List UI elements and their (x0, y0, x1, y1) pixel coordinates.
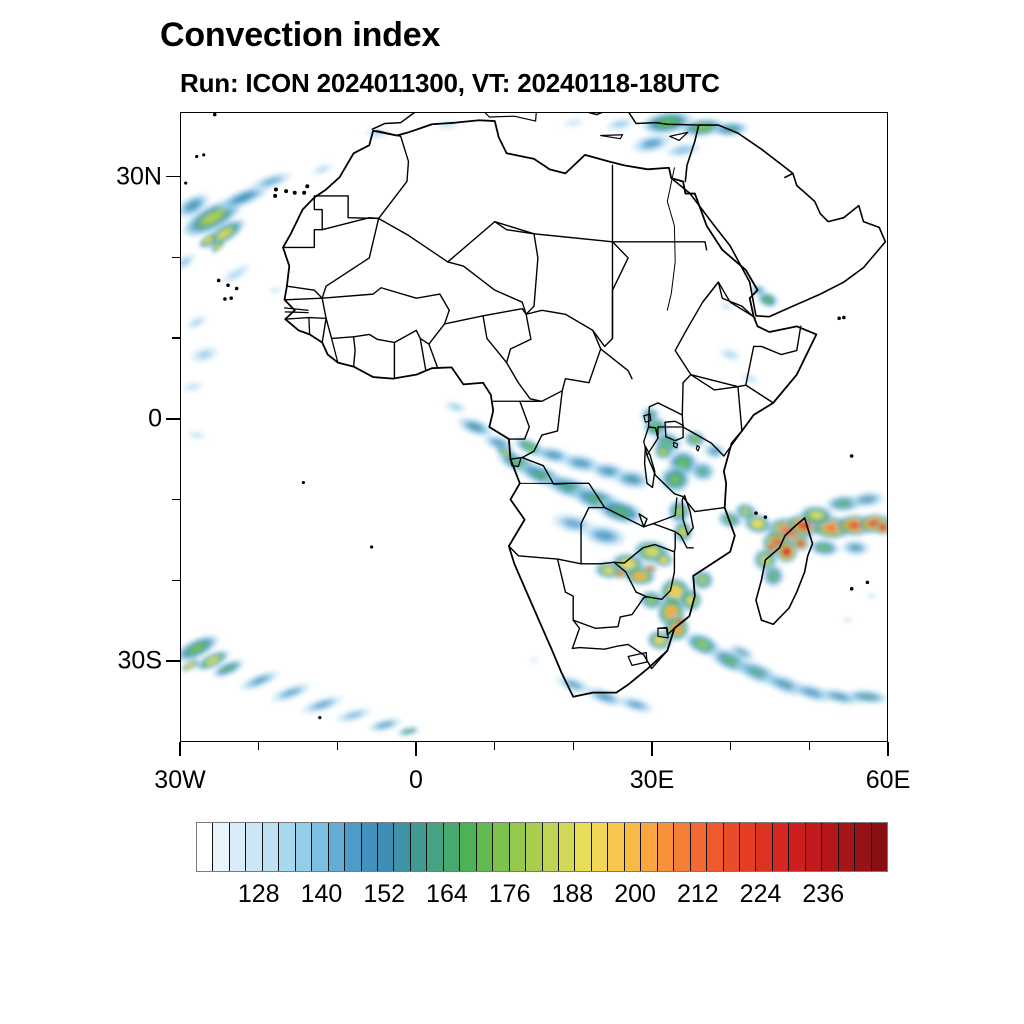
colorbar-tick-label: 176 (489, 880, 531, 909)
colorbar-swatch (789, 823, 805, 871)
y-axis-label: 30N (96, 162, 162, 191)
colorbar-tick-label: 128 (238, 880, 280, 909)
colorbar-swatch (296, 823, 312, 871)
x-axis-tick-major (887, 742, 889, 756)
colorbar-tick-label: 236 (802, 880, 844, 909)
colorbar-swatch (493, 823, 509, 871)
colorbar-swatch (872, 823, 887, 871)
map-canvas (181, 113, 887, 741)
colorbar-swatch (427, 823, 443, 871)
colorbar-swatch (740, 823, 756, 871)
colorbar-tick-label: 140 (301, 880, 343, 909)
colorbar-swatch (658, 823, 674, 871)
x-axis-label: 0 (409, 766, 423, 795)
x-axis-tick-minor (494, 742, 496, 750)
y-axis-tick-minor (172, 337, 180, 339)
colorbar-swatch (559, 823, 575, 871)
colorbar-swatch (674, 823, 690, 871)
colorbar-swatch (246, 823, 262, 871)
x-axis-label: 30W (154, 766, 205, 795)
colorbar-swatch (378, 823, 394, 871)
colorbar-tick-label: 212 (677, 880, 719, 909)
map-plot-area (180, 112, 888, 742)
colorbar-swatch (230, 823, 246, 871)
y-axis-tick-minor (172, 499, 180, 501)
x-axis-tick-major (179, 742, 181, 756)
colorbar-swatch (460, 823, 476, 871)
colorbar-swatch (625, 823, 641, 871)
colorbar (196, 822, 888, 872)
colorbar-swatch (855, 823, 871, 871)
x-axis-tick-major (415, 742, 417, 756)
colorbar-swatch (526, 823, 542, 871)
x-axis-tick-minor (809, 742, 811, 750)
colorbar-swatch (756, 823, 772, 871)
colorbar-swatch (197, 823, 213, 871)
colorbar-swatch (707, 823, 723, 871)
colorbar-tick-label: 224 (740, 880, 782, 909)
colorbar-swatch (263, 823, 279, 871)
colorbar-swatch (312, 823, 328, 871)
y-axis-tick-major (166, 176, 180, 178)
colorbar-tick-label: 152 (363, 880, 405, 909)
colorbar-swatch (641, 823, 657, 871)
x-axis-tick-minor (573, 742, 575, 750)
colorbar-swatch (510, 823, 526, 871)
colorbar-swatch (345, 823, 361, 871)
colorbar-swatch (213, 823, 229, 871)
y-axis-label: 30S (96, 647, 162, 676)
colorbar-swatch (822, 823, 838, 871)
colorbar-swatch (329, 823, 345, 871)
x-axis-label: 60E (866, 766, 910, 795)
x-axis-tick-minor (730, 742, 732, 750)
colorbar-tick-label: 200 (614, 880, 656, 909)
colorbar-swatch (691, 823, 707, 871)
colorbar-swatch (608, 823, 624, 871)
colorbar-swatch (575, 823, 591, 871)
colorbar-swatch (543, 823, 559, 871)
colorbar-swatch (411, 823, 427, 871)
x-axis-tick-minor (337, 742, 339, 750)
colorbar-tick-label: 164 (426, 880, 468, 909)
colorbar-swatch (724, 823, 740, 871)
y-axis-label: 0 (96, 404, 162, 433)
colorbar-tick-label: 188 (552, 880, 594, 909)
colorbar-swatch (362, 823, 378, 871)
y-axis-tick-major (166, 418, 180, 420)
page-title: Convection index (160, 16, 440, 55)
colorbar-swatch (394, 823, 410, 871)
colorbar-swatch (839, 823, 855, 871)
y-axis-tick-major (166, 660, 180, 662)
y-axis-tick-minor (172, 580, 180, 582)
colorbar-swatch (592, 823, 608, 871)
colorbar-swatch (773, 823, 789, 871)
colorbar-swatch (279, 823, 295, 871)
colorbar-swatch (477, 823, 493, 871)
run-valid-time-subtitle: Run: ICON 2024011300, VT: 20240118-18UTC (180, 68, 720, 99)
colorbar-swatch (444, 823, 460, 871)
x-axis-tick-minor (258, 742, 260, 750)
y-axis-tick-minor (172, 257, 180, 259)
colorbar-swatch (806, 823, 822, 871)
x-axis-label: 30E (630, 766, 674, 795)
x-axis-tick-major (651, 742, 653, 756)
